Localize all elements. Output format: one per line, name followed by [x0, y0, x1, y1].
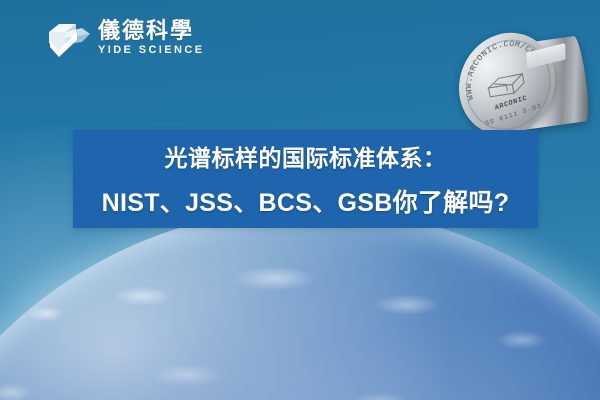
reference-disc-object: WWW.ARCONIC.COM/CRMS ARCONIC SS 6	[452, 26, 600, 146]
logo-wordmark: 儀德科學 YIDE SCIENCE	[98, 20, 204, 56]
logo-chinese-name: 儀德科學	[98, 20, 204, 42]
logo-arrow-check-icon	[46, 18, 90, 58]
title-line-2: NIST、JSS、BCS、GSB你了解吗?	[102, 183, 510, 219]
title-banner: 光谱标样的国际标准体系： NIST、JSS、BCS、GSB你了解吗?	[73, 130, 538, 228]
brand-logo[interactable]: 儀德科學 YIDE SCIENCE	[46, 18, 204, 58]
disc-engraving: WWW.ARCONIC.COM/CRMS ARCONIC SS 6	[450, 20, 565, 148]
poster-root: 儀德科學 YIDE SCIENCE WWW.ARCONIC.COM/CRMS	[0, 0, 600, 400]
title-line-1: 光谱标样的国际标准体系：	[165, 139, 447, 173]
earth-globe	[0, 208, 600, 400]
disc-top-face: WWW.ARCONIC.COM/CRMS ARCONIC SS 6	[450, 20, 565, 148]
disc-group: WWW.ARCONIC.COM/CRMS ARCONIC SS 6	[452, 26, 600, 146]
logo-english-name: YIDE SCIENCE	[98, 45, 204, 56]
